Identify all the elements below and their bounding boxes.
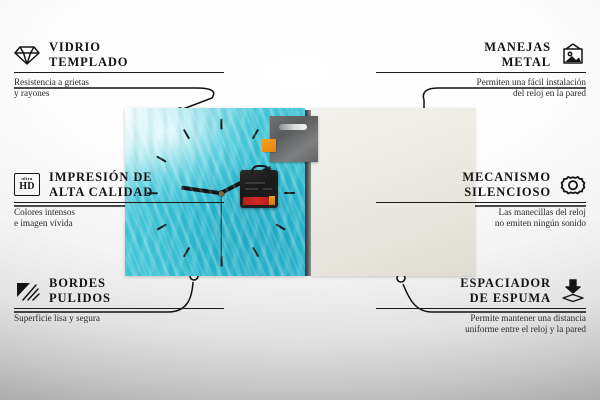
feature-edges-rule [14, 308, 224, 309]
feature-mechanism-subtitle: Las manecillas del reloj no emiten ningú… [376, 207, 586, 230]
feature-mechanism-head: MECANISMO SILENCIOSO [376, 170, 586, 199]
metal-hanger-plate [270, 116, 318, 162]
feature-edges-subtitle: Superficie lisa y segura [14, 313, 224, 324]
feature-handles-rule [376, 72, 586, 73]
gear-icon [560, 172, 586, 198]
feature-foam: ESPACIADOR DE ESPUMA Permite mantener un… [376, 276, 586, 336]
feature-foam-subtitle: Permite mantener una distancia uniforme … [376, 313, 586, 336]
feature-print-title: IMPRESIÓN DE ALTA CALIDAD [49, 170, 153, 199]
feature-glass: VIDRIO TEMPLADO Resistencia a grietas y … [14, 40, 224, 100]
mechanism-detail [263, 188, 272, 190]
feature-foam-rule [376, 308, 586, 309]
feature-glass-title: VIDRIO TEMPLADO [49, 40, 128, 69]
feature-glass-rule [14, 72, 224, 73]
mechanism-detail [245, 182, 265, 184]
feature-mechanism: MECANISMO SILENCIOSO Las manecillas del … [376, 170, 586, 230]
clock-tick [284, 192, 295, 194]
feature-glass-head: VIDRIO TEMPLADO [14, 40, 224, 69]
feature-print-subtitle: Colores intensos e imagen vívida [14, 207, 224, 230]
feature-handles-subtitle: Permiten una fácil instalación del reloj… [376, 77, 586, 100]
wall-frame-hanger-icon [560, 42, 586, 68]
feature-handles: MANEJAS METAL Permiten una fácil instala… [376, 40, 586, 100]
feature-edges-head: BORDES PULIDOS [14, 276, 224, 305]
clock-mechanism [240, 170, 278, 208]
feature-edges-title: BORDES PULIDOS [49, 276, 111, 305]
mechanism-hook [251, 165, 270, 175]
feature-glass-subtitle: Resistencia a grietas y rayones [14, 77, 224, 100]
diamond-icon [14, 42, 40, 68]
clock-tick [252, 128, 259, 139]
infographic-canvas: VIDRIO TEMPLADO Resistencia a grietas y … [0, 0, 600, 400]
feature-handles-head: MANEJAS METAL [376, 40, 586, 69]
clock-tick [275, 224, 286, 231]
feature-mechanism-title: MECANISMO SILENCIOSO [462, 170, 551, 199]
mechanism-detail [245, 188, 258, 190]
feature-edges: BORDES PULIDOS Superficie lisa y segura [14, 276, 224, 324]
clock-tick [252, 247, 259, 258]
polished-edges-icon [14, 278, 40, 304]
feature-print-rule [14, 202, 224, 203]
clock-tick [183, 247, 190, 258]
clock-tick [183, 128, 190, 139]
foam-spacer [262, 139, 276, 152]
feature-handles-title: MANEJAS METAL [484, 40, 551, 69]
feature-foam-title: ESPACIADOR DE ESPUMA [460, 276, 551, 305]
clock-tick [220, 256, 222, 267]
ultra-hd-icon: ultra HD [14, 172, 40, 198]
clock-tick [220, 119, 222, 130]
clock-tick [156, 155, 167, 162]
feature-mechanism-rule [376, 202, 586, 203]
feature-print-head: ultra HD IMPRESIÓN DE ALTA CALIDAD [14, 170, 224, 199]
feature-foam-head: ESPACIADOR DE ESPUMA [376, 276, 586, 305]
feature-print: ultra HD IMPRESIÓN DE ALTA CALIDAD Color… [14, 170, 224, 230]
foam-spacer-arrow-icon [560, 278, 586, 304]
hanger-slot [279, 124, 307, 130]
mechanism-chip [269, 196, 275, 205]
